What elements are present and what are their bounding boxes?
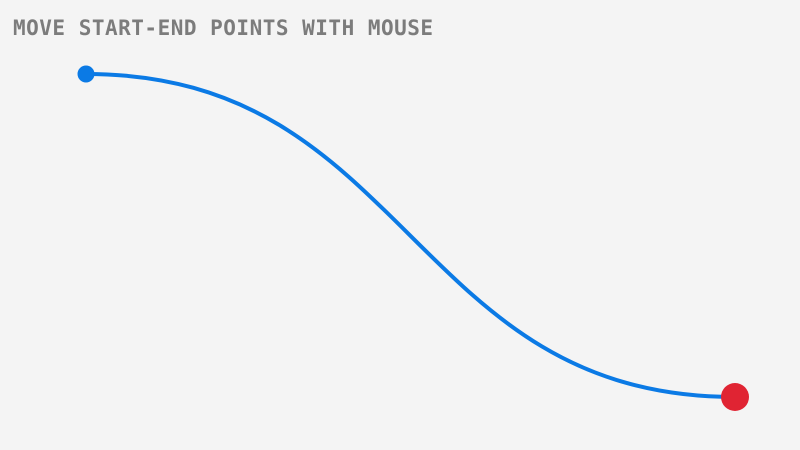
page-title: MOVE START-END POINTS WITH MOUSE: [13, 16, 434, 40]
curve-scene: [0, 0, 800, 450]
curve-canvas[interactable]: MOVE START-END POINTS WITH MOUSE: [0, 0, 800, 450]
end-point-handle[interactable]: [721, 383, 749, 411]
bezier-curve: [86, 74, 735, 397]
start-point-handle[interactable]: [78, 66, 95, 83]
app-root: MOVE START-END POINTS WITH MOUSE: [0, 0, 800, 450]
